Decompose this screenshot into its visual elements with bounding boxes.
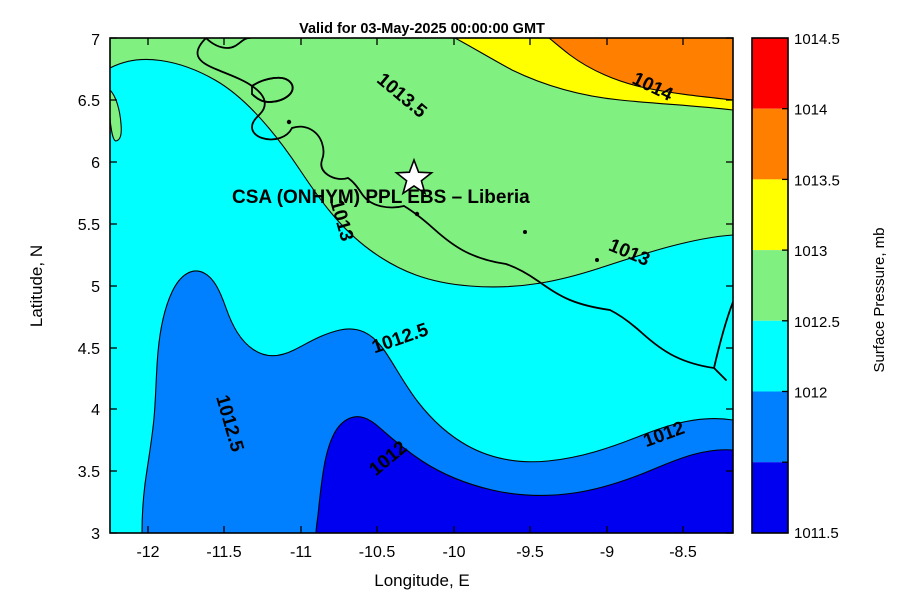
y-tick-label: 5	[91, 279, 100, 296]
colorbar-tick-label: 1014.5	[794, 31, 840, 48]
x-tick-label: -10	[442, 544, 465, 561]
colorbar-tick-label: 1012.5	[794, 314, 840, 331]
x-axis-title: Longitude, E	[374, 571, 469, 590]
x-tick-label: -11.5	[206, 544, 241, 561]
y-axis-title: Latitude, N	[27, 245, 46, 327]
colorbar-tick-label: 1012	[794, 385, 827, 402]
x-tick-label: -12	[136, 544, 159, 561]
x-tick-label: -9.5	[516, 544, 544, 561]
colorbar-swatch-1012p5	[752, 321, 788, 392]
colorbar-swatch-1013p5	[752, 179, 788, 250]
y-tick-label: 6	[91, 155, 100, 172]
colorbar-swatch-1013	[752, 250, 788, 321]
colorbar-tick-label: 1013	[794, 243, 827, 260]
x-tick-label: -8.5	[669, 544, 697, 561]
site-label: CSA (ONHYM) PPL EBS – Liberia	[232, 187, 530, 208]
y-tick-label: 4.5	[78, 341, 100, 358]
y-tick-label: 6.5	[78, 93, 100, 110]
x-tick-label: -10.5	[359, 544, 396, 561]
colorbar-swatch-1012	[752, 392, 788, 463]
y-tick-label: 5.5	[78, 217, 100, 234]
colorbar-tick-label: 1013.5	[794, 172, 840, 189]
colorbar-tick-label: 1011.5	[794, 525, 839, 542]
colorbar-swatch-1014	[752, 109, 788, 180]
colorbar-title: Surface Pressure, mb	[871, 227, 888, 372]
y-tick-label: 4	[91, 402, 100, 419]
page-title: Valid for 03-May-2025 00:00:00 GMT	[299, 21, 545, 37]
contour-plot-area: 1013.5 1014 1013 1013 1012.5 1012.5 1012…	[27, 32, 733, 590]
x-tick-label: -9	[600, 544, 614, 561]
surface-pressure-figure: Valid for 03-May-2025 00:00:00 GMT	[0, 0, 900, 600]
x-tick-label: -11	[290, 544, 312, 561]
colorbar-swatch-1014p5	[752, 38, 788, 109]
y-tick-label: 7	[91, 32, 100, 49]
colorbar-swatch-1011p5	[752, 462, 788, 533]
y-tick-label: 3.5	[78, 464, 100, 481]
colorbar-tick-label: 1014	[794, 102, 827, 119]
y-tick-label: 3	[91, 526, 100, 543]
